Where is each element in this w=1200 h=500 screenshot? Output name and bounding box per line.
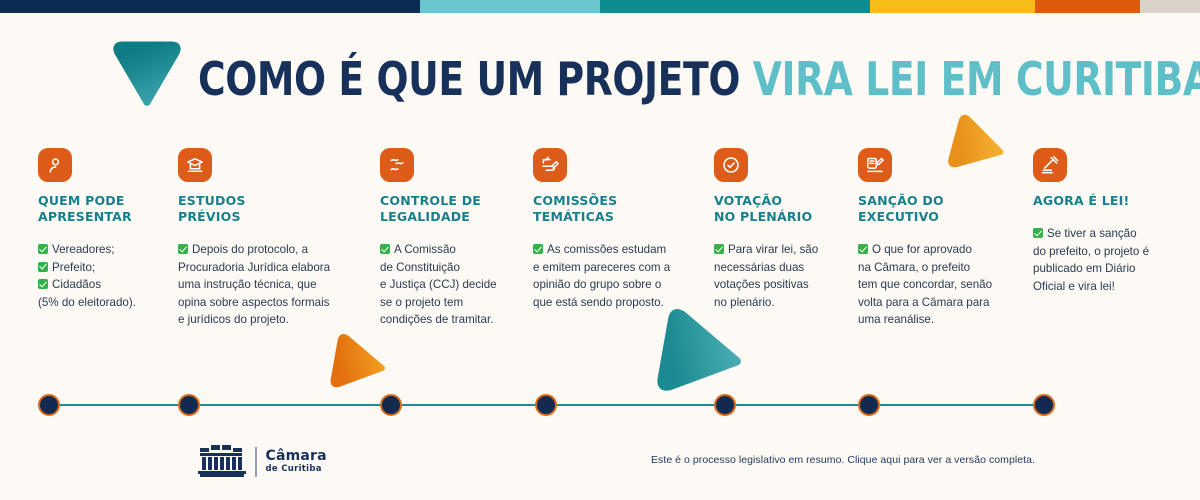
step-extra-text: do prefeito, o projeto é publicado em Di… xyxy=(1033,243,1183,296)
camara-building-icon xyxy=(198,440,246,483)
step-bullet: Vereadores; xyxy=(38,241,168,259)
step-column-4: COMISSÕES TEMÁTICASAs comissões estudame… xyxy=(533,148,703,311)
page-title: COMO É QUE UM PROJETO VIRA LEI EM CURITI… xyxy=(198,52,1200,106)
step-extra-text: necessárias duas votações positivas no p… xyxy=(714,259,844,312)
step-bullet: Se tiver a sanção xyxy=(1033,225,1183,243)
timeline-dot-5[interactable] xyxy=(714,394,736,416)
footer-note[interactable]: Este é o processo legislativo em resumo.… xyxy=(651,454,1035,466)
step-title-4: COMISSÕES TEMÁTICAS xyxy=(533,193,703,225)
step-body-4: As comissões estudame emitem pareceres c… xyxy=(533,241,703,311)
timeline-dot-1[interactable] xyxy=(38,394,60,416)
teal-triangle-top xyxy=(112,38,182,108)
step-column-5: VOTAÇÃO NO PLENÁRIOPara virar lei, sãone… xyxy=(714,148,844,311)
step-title-7: AGORA É LEI! xyxy=(1033,193,1183,209)
logo-divider xyxy=(255,447,257,477)
topbar-segment-orange xyxy=(1035,0,1140,13)
step-body-6: O que for aprovadona Câmara, o prefeito … xyxy=(858,241,1018,329)
check-circle-icon xyxy=(714,148,748,182)
review-hand-icon xyxy=(533,148,567,182)
step-bullet: Prefeito; xyxy=(38,259,168,277)
topbar-segment-beige xyxy=(1140,0,1200,13)
topbar-segment-teal xyxy=(600,0,870,13)
signature-icon xyxy=(858,148,892,182)
page-title-part2: VIRA LEI EM CURITIBA xyxy=(753,52,1200,106)
step-title-2: ESTUDOS PRÉVIOS xyxy=(178,193,358,225)
infographic-root: COMO É QUE UM PROJETO VIRA LEI EM CURITI… xyxy=(0,0,1200,500)
timeline-dot-4[interactable] xyxy=(535,394,557,416)
step-bullet-text: A Comissão xyxy=(394,243,456,256)
check-icon xyxy=(533,244,543,254)
topbar-segment-yellow xyxy=(870,0,1035,13)
topbar-segment-navy xyxy=(0,0,420,13)
study-book-icon xyxy=(178,148,212,182)
timeline-dot-6[interactable] xyxy=(858,394,880,416)
step-extra-text: de Constituição e Justiça (CCJ) decide s… xyxy=(380,259,535,329)
step-bullet-text: Cidadãos xyxy=(52,278,101,291)
step-column-6: SANÇÃO DO EXECUTIVOO que for aprovadona … xyxy=(858,148,1018,329)
step-extra-text: Procuradoria Jurídica elabora uma instru… xyxy=(178,259,358,329)
step-extra-text: (5% do eleitorado). xyxy=(38,294,168,312)
timeline-dot-7[interactable] xyxy=(1033,394,1055,416)
step-body-3: A Comissãode Constituição e Justiça (CCJ… xyxy=(380,241,535,329)
step-bullet: Depois do protocolo, a xyxy=(178,241,358,259)
balance-scale-icon xyxy=(380,148,414,182)
check-icon xyxy=(1033,228,1043,238)
step-bullet-text: Vereadores; xyxy=(52,243,115,256)
step-bullet: Para virar lei, são xyxy=(714,241,844,259)
logo-sub: de Curitiba xyxy=(266,465,327,474)
step-bullet-text: As comissões estudam xyxy=(547,243,666,256)
step-bullet-text: Prefeito; xyxy=(52,261,95,274)
step-bullet: Cidadãos xyxy=(38,276,168,294)
check-icon xyxy=(714,244,724,254)
step-bullet-text: Se tiver a sanção xyxy=(1047,227,1137,240)
step-title-1: QUEM PODE APRESENTAR xyxy=(38,193,168,225)
step-extra-text: e emitem pareceres com a opinião do grup… xyxy=(533,259,703,312)
gavel-icon xyxy=(1033,148,1067,182)
person-icon xyxy=(38,148,72,182)
check-icon xyxy=(380,244,390,254)
step-body-7: Se tiver a sançãodo prefeito, o projeto … xyxy=(1033,225,1183,295)
page-title-part1: COMO É QUE UM PROJETO xyxy=(198,52,753,106)
timeline-dot-2[interactable] xyxy=(178,394,200,416)
step-bullet: O que for aprovado xyxy=(858,241,1018,259)
check-icon xyxy=(38,244,48,254)
top-color-bar xyxy=(0,0,1200,13)
step-title-6: SANÇÃO DO EXECUTIVO xyxy=(858,193,1018,225)
logo-text: Câmara de Curitiba xyxy=(266,449,327,474)
step-extra-text: na Câmara, o prefeito tem que concordar,… xyxy=(858,259,1018,329)
step-column-2: ESTUDOS PRÉVIOSDepois do protocolo, aPro… xyxy=(178,148,358,329)
topbar-segment-light-teal xyxy=(420,0,600,13)
step-bullet-text: Para virar lei, são xyxy=(728,243,818,256)
check-icon xyxy=(858,244,868,254)
step-title-3: CONTROLE DE LEGALIDADE xyxy=(380,193,535,225)
check-icon xyxy=(178,244,188,254)
orange-triangle-left xyxy=(331,336,387,392)
step-body-1: Vereadores;Prefeito;Cidadãos(5% do eleit… xyxy=(38,241,168,311)
step-title-5: VOTAÇÃO NO PLENÁRIO xyxy=(714,193,844,225)
step-bullet-text: Depois do protocolo, a xyxy=(192,243,308,256)
steps-container: QUEM PODE APRESENTARVereadores;Prefeito;… xyxy=(0,148,1200,338)
timeline-dot-3[interactable] xyxy=(380,394,402,416)
logo-name: Câmara xyxy=(266,449,327,463)
step-column-1: QUEM PODE APRESENTARVereadores;Prefeito;… xyxy=(38,148,168,311)
camara-logo[interactable]: Câmara de Curitiba xyxy=(198,440,327,483)
check-icon xyxy=(38,279,48,289)
check-icon xyxy=(38,262,48,272)
step-bullet: A Comissão xyxy=(380,241,535,259)
step-body-2: Depois do protocolo, aProcuradoria Juríd… xyxy=(178,241,358,329)
step-column-3: CONTROLE DE LEGALIDADEA Comissãode Const… xyxy=(380,148,535,329)
step-bullet-text: O que for aprovado xyxy=(872,243,972,256)
step-bullet: As comissões estudam xyxy=(533,241,703,259)
step-column-7: AGORA É LEI!Se tiver a sançãodo prefeito… xyxy=(1033,148,1183,295)
step-body-5: Para virar lei, sãonecessárias duas vota… xyxy=(714,241,844,311)
